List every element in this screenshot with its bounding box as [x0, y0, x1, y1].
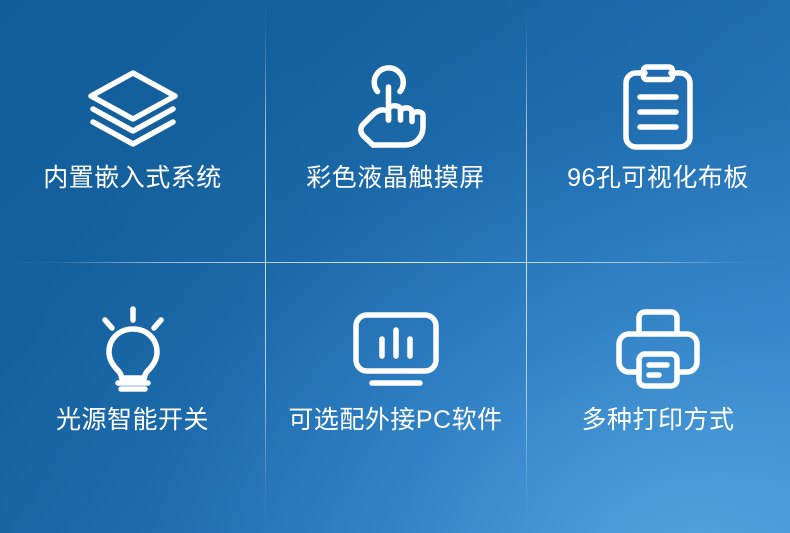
feature-label: 96孔可视化布板: [567, 165, 749, 193]
clipboard-icon: [603, 63, 713, 151]
feature-grid: 内置嵌入式系统 彩色液晶触摸屏: [0, 0, 790, 533]
layers-stack-icon: [78, 63, 188, 151]
feature-cell-color-lcd-touchscreen[interactable]: 彩色液晶触摸屏: [265, 0, 526, 262]
product-feature-panel: 内置嵌入式系统 彩色液晶触摸屏: [0, 0, 790, 533]
lightbulb-icon: [78, 305, 188, 393]
feature-cell-96-well-plate-layout[interactable]: 96孔可视化布板: [526, 0, 790, 262]
feature-cell-multiple-print-methods[interactable]: 多种打印方式: [526, 262, 790, 533]
feature-label: 可选配外接PC软件: [288, 407, 502, 435]
feature-cell-embedded-system[interactable]: 内置嵌入式系统: [0, 0, 265, 262]
feature-label: 多种打印方式: [581, 407, 734, 435]
feature-label: 光源智能开关: [56, 407, 209, 435]
monitor-bar-chart-icon: [341, 305, 451, 393]
feature-label: 彩色液晶触摸屏: [306, 165, 485, 193]
printer-icon: [603, 305, 713, 393]
touch-hand-icon: [341, 63, 451, 151]
feature-label: 内置嵌入式系统: [43, 165, 222, 193]
feature-cell-light-source-smart-switch[interactable]: 光源智能开关: [0, 262, 265, 533]
feature-cell-optional-pc-software[interactable]: 可选配外接PC软件: [265, 262, 526, 533]
